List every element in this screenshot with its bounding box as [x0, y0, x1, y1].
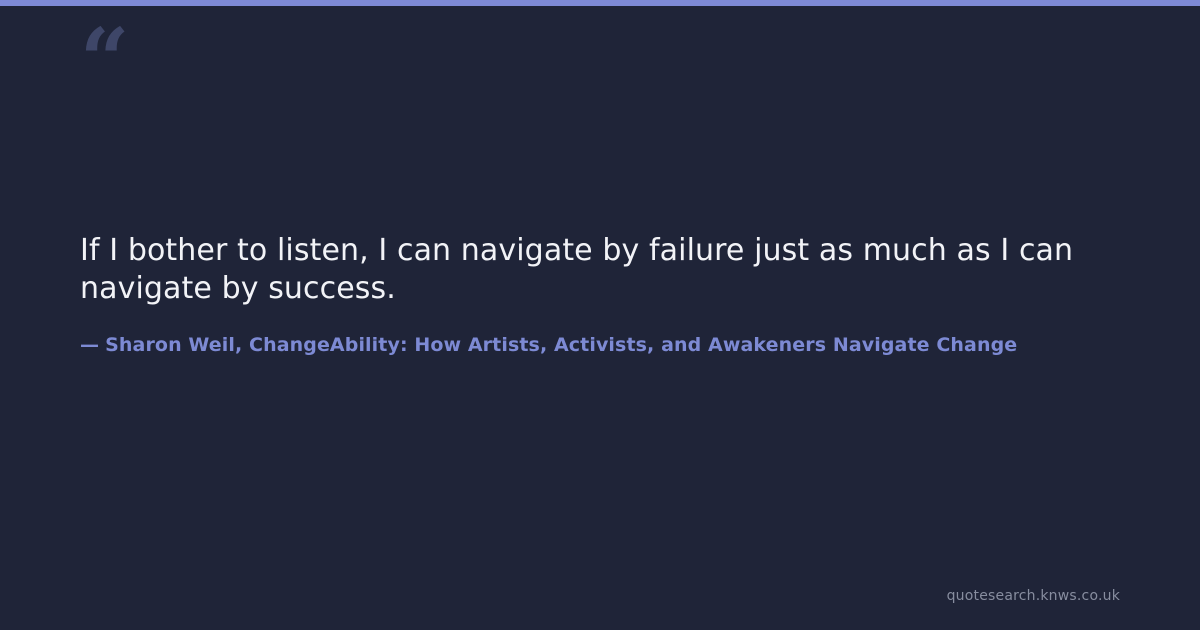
- top-accent-bar: [0, 0, 1200, 6]
- quote-card: “ If I bother to listen, I can navigate …: [0, 0, 1200, 630]
- attribution-dash: —: [80, 334, 99, 356]
- attribution-source: Sharon Weil, ChangeAbility: How Artists,…: [105, 334, 1017, 356]
- site-url: quotesearch.knws.co.uk: [947, 588, 1120, 604]
- quote-content: If I bother to listen, I can navigate by…: [80, 232, 1200, 358]
- open-quote-icon: “: [80, 18, 127, 104]
- quote-attribution: —Sharon Weil, ChangeAbility: How Artists…: [80, 332, 1200, 358]
- quote-text: If I bother to listen, I can navigate by…: [80, 232, 1080, 308]
